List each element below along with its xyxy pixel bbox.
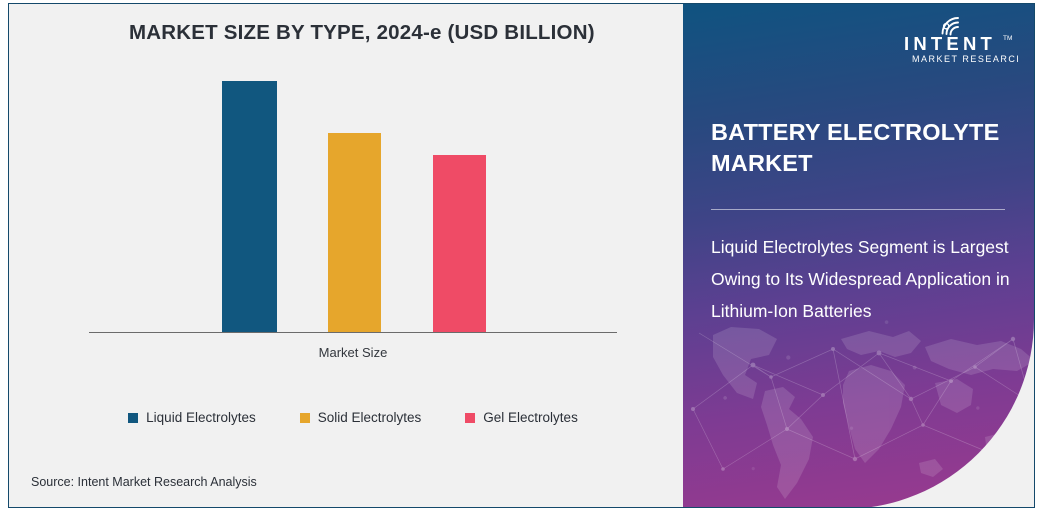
legend-swatch-icon [128, 413, 138, 423]
x-axis-label: Market Size [89, 345, 617, 360]
chart-panel: MARKET SIZE BY TYPE, 2024-e (USD BILLION… [9, 4, 685, 507]
chart-legend: Liquid Electrolytes Solid Electrolytes G… [89, 410, 617, 425]
legend-label: Liquid Electrolytes [146, 410, 256, 425]
panel-divider [711, 209, 1005, 210]
bar-group [89, 64, 617, 333]
logo-tagline: MARKET RESEARCH [912, 54, 1018, 64]
right-gradient-panel: INTENT TM MARKET RESEARCH BATTERY ELECTR… [683, 4, 1034, 508]
panel-subtitle: Liquid Electrolytes Segment is Largest O… [711, 232, 1011, 328]
legend-label: Gel Electrolytes [483, 410, 578, 425]
bar-liquid-electrolytes [222, 81, 277, 333]
bar-gel-electrolytes [433, 155, 486, 333]
chart-plot-area [89, 64, 617, 333]
legend-item-solid-electrolytes: Solid Electrolytes [300, 410, 422, 425]
logo-trademark: TM [1003, 35, 1012, 42]
logo-wordmark: INTENT [904, 33, 996, 54]
bar-solid-electrolytes [328, 133, 381, 333]
intent-market-research-logo-icon: INTENT TM MARKET RESEARCH [902, 12, 1018, 66]
legend-item-gel-electrolytes: Gel Electrolytes [465, 410, 578, 425]
infographic-root: MARKET SIZE BY TYPE, 2024-e (USD BILLION… [0, 0, 1043, 513]
panel-title: BATTERY ELECTROLYTE MARKET [711, 117, 1011, 180]
legend-swatch-icon [300, 413, 310, 423]
legend-swatch-icon [465, 413, 475, 423]
legend-item-liquid-electrolytes: Liquid Electrolytes [128, 410, 256, 425]
chart-title: MARKET SIZE BY TYPE, 2024-e (USD BILLION… [129, 21, 595, 45]
source-note: Source: Intent Market Research Analysis [31, 475, 257, 489]
x-axis-line [89, 332, 617, 333]
logo: INTENT TM MARKET RESEARCH [902, 12, 1018, 66]
legend-label: Solid Electrolytes [318, 410, 422, 425]
infographic-card: MARKET SIZE BY TYPE, 2024-e (USD BILLION… [8, 3, 1035, 508]
